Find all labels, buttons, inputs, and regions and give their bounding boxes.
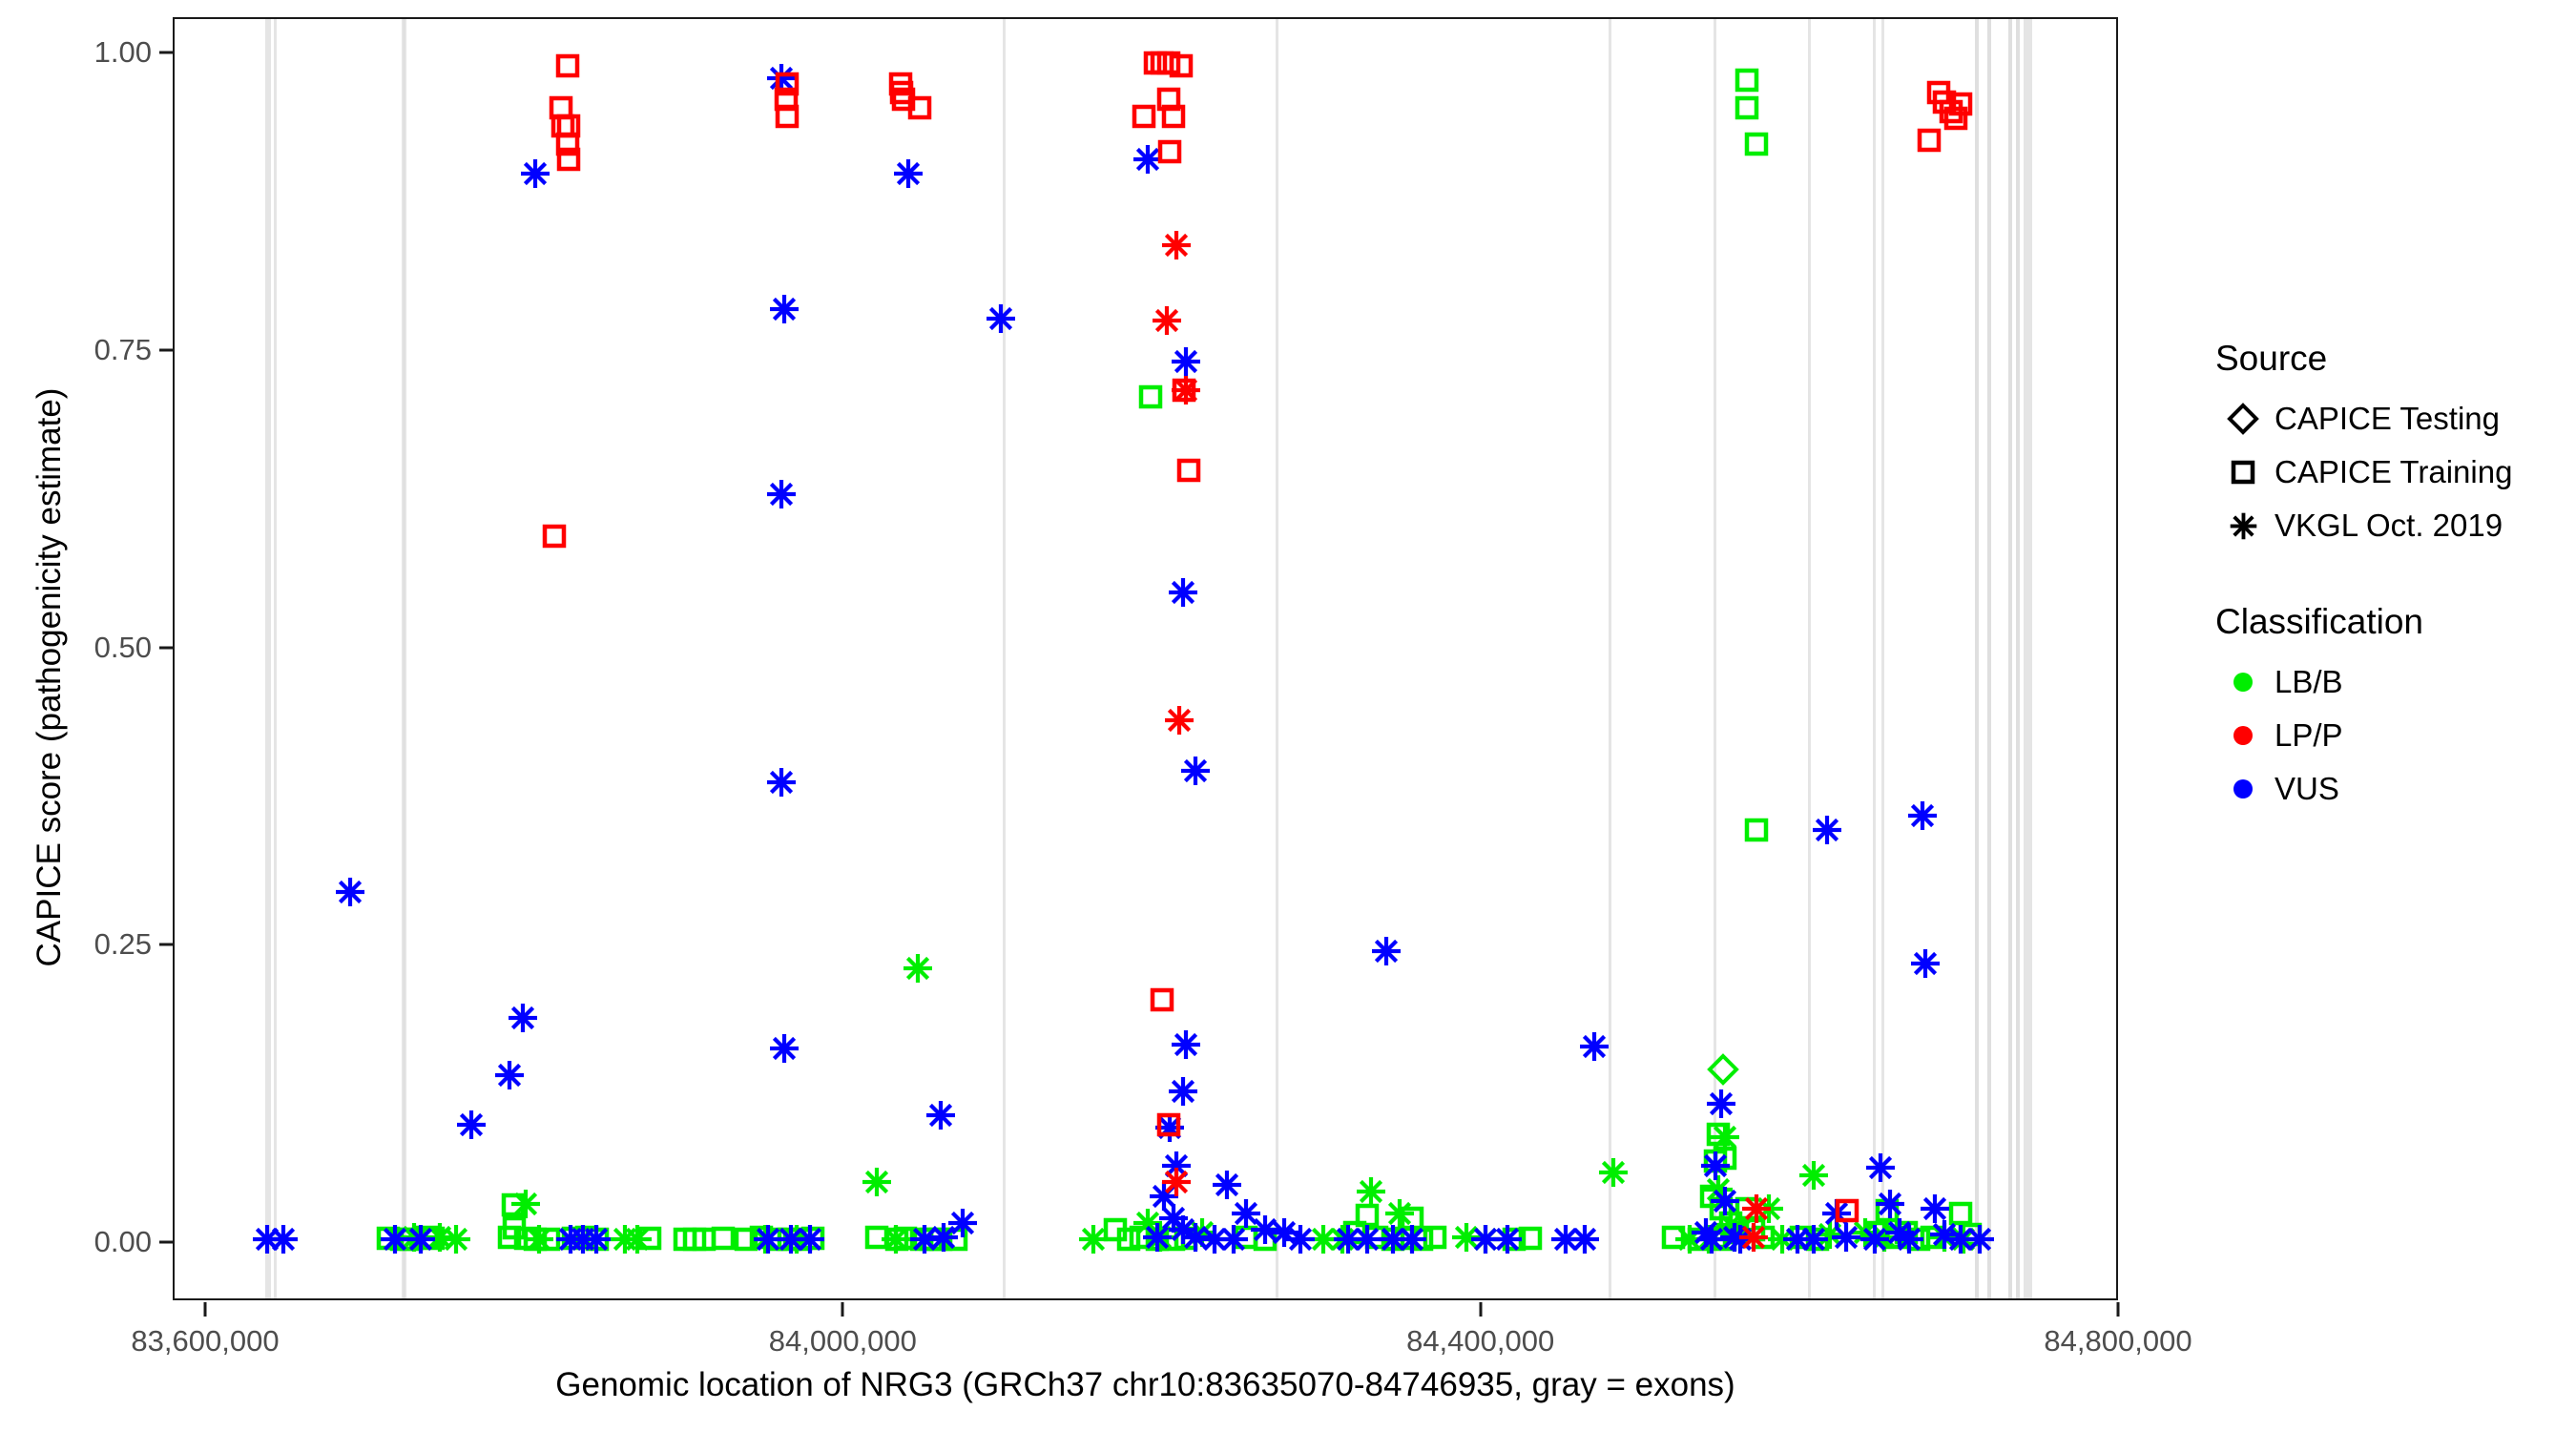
y-axis-title: CAPICE score (pathogenicity estimate) [31, 105, 69, 1250]
x-axis-tick-label: 84,000,000 [769, 1324, 917, 1358]
data-point [900, 950, 936, 986]
data-point [890, 156, 926, 192]
legend-item-vkgl-oct-2019[interactable]: VKGL Oct. 2019 [2212, 499, 2565, 552]
asterisk-icon [2212, 509, 2275, 543]
circle-icon [2212, 777, 2275, 801]
legend-item-label: VUS [2275, 771, 2339, 807]
data-point [1394, 1221, 1430, 1257]
legend: Source CAPICE Testing CAPICE TrainingVKG… [2212, 339, 2565, 816]
y-axis: 0.000.250.500.751.00 [0, 0, 173, 1336]
data-point [578, 1221, 614, 1257]
legend-item-label: CAPICE Training [2275, 454, 2512, 490]
legend-title-classification: Classification [2215, 602, 2565, 642]
data-point [438, 1221, 474, 1257]
y-axis-tick-label: 0.50 [94, 631, 152, 665]
data-point [1177, 753, 1214, 789]
x-axis-tick-label: 84,400,000 [1406, 1324, 1554, 1358]
legend-item-lb-b[interactable]: LB/B [2212, 655, 2565, 709]
circle-icon [2212, 723, 2275, 748]
scatter-points [175, 19, 2116, 1298]
data-point [766, 291, 802, 327]
data-point [517, 156, 553, 192]
data-point [332, 874, 368, 910]
data-point [521, 1221, 557, 1257]
data-point [1215, 1221, 1252, 1257]
data-point [265, 1221, 301, 1257]
data-point [1917, 128, 1942, 153]
legend-item-label: CAPICE Testing [2275, 401, 2500, 437]
data-point [556, 147, 581, 172]
data-point [505, 1000, 541, 1036]
y-axis-tick-label: 0.00 [94, 1225, 152, 1259]
data-point [1862, 1150, 1899, 1186]
x-axis-tick [841, 1302, 844, 1317]
plot-panel [173, 17, 2118, 1300]
data-point [1149, 302, 1185, 339]
data-point [1158, 1164, 1195, 1200]
data-point [1796, 1157, 1832, 1193]
y-axis-tick [159, 944, 173, 946]
data-point [1735, 1219, 1772, 1255]
diamond-icon [2212, 403, 2275, 435]
data-point [1595, 1154, 1631, 1191]
x-axis-title: Genomic location of NRG3 (GRCh37 chr10:8… [173, 1366, 2118, 1404]
data-point [491, 1057, 528, 1093]
data-point [1735, 68, 1759, 93]
x-axis-tick-label: 83,600,000 [131, 1324, 279, 1358]
data-point [983, 301, 1019, 337]
legend-item-vus[interactable]: VUS [2212, 762, 2565, 816]
data-point [542, 524, 567, 549]
legend-item-label: LP/P [2275, 717, 2343, 754]
data-point [763, 764, 800, 800]
data-point [1139, 1219, 1175, 1255]
data-point [1282, 1221, 1319, 1257]
data-point [1157, 139, 1182, 164]
data-point [508, 1186, 544, 1222]
data-point [1857, 1221, 1893, 1257]
data-point [1368, 933, 1404, 969]
legend-item-lp-p[interactable]: LP/P [2212, 709, 2565, 762]
y-axis-tick-label: 1.00 [94, 35, 152, 70]
y-axis-tick [159, 52, 173, 54]
y-axis-tick [159, 1241, 173, 1244]
legend-item-label: LB/B [2275, 664, 2343, 700]
data-point [1744, 132, 1769, 156]
data-point [619, 1221, 655, 1257]
circle-icon [2212, 670, 2275, 695]
square-icon [2212, 460, 2275, 485]
chart-root: 0.000.250.500.751.00 CAPICE score (patho… [0, 0, 2576, 1431]
data-point [403, 1221, 439, 1257]
data-point [1161, 104, 1186, 129]
data-point [1567, 1221, 1603, 1257]
data-point [1891, 1221, 1927, 1257]
data-point [1703, 1086, 1739, 1122]
data-point [555, 53, 580, 78]
legend-item-capice-testing[interactable]: CAPICE Testing [2212, 392, 2565, 446]
data-point [1150, 987, 1174, 1012]
data-point [1075, 1221, 1111, 1257]
data-point [1132, 104, 1156, 129]
legend-spacer [2212, 552, 2565, 602]
legend-title-source: Source [2215, 339, 2565, 379]
y-axis-tick [159, 646, 173, 649]
x-axis-tick [1479, 1302, 1482, 1317]
data-point [1835, 1198, 1859, 1223]
data-point [763, 476, 800, 512]
data-point [1962, 1221, 1998, 1257]
data-point [1138, 384, 1163, 409]
data-point [1165, 574, 1201, 611]
data-point [453, 1107, 489, 1143]
data-point [1904, 798, 1941, 834]
data-point [1158, 227, 1195, 263]
data-point [859, 1164, 895, 1200]
data-point [1165, 1073, 1201, 1110]
data-point [766, 1030, 802, 1067]
x-axis-tick [204, 1302, 207, 1317]
data-point [923, 1097, 959, 1133]
x-axis-tick [2117, 1302, 2120, 1317]
data-point [1697, 1148, 1734, 1184]
data-point [1489, 1221, 1526, 1257]
data-point [792, 1221, 828, 1257]
y-axis-tick-label: 0.75 [94, 333, 152, 367]
data-point [1907, 945, 1943, 982]
data-point [1948, 92, 1973, 116]
data-point [775, 104, 800, 129]
y-axis-tick-label: 0.25 [94, 927, 152, 962]
legend-item-capice-training[interactable]: CAPICE Training [2212, 446, 2565, 499]
data-point [1161, 702, 1197, 738]
data-point [1744, 818, 1769, 842]
data-point [945, 1205, 981, 1241]
data-point [1168, 372, 1204, 408]
y-axis-tick [159, 348, 173, 351]
data-point [711, 1226, 736, 1251]
data-point [1576, 1028, 1612, 1065]
data-point [1809, 812, 1845, 848]
legend-item-label: VKGL Oct. 2019 [2275, 508, 2503, 544]
data-point [1156, 1112, 1181, 1137]
data-point [907, 95, 932, 120]
data-point [1176, 458, 1201, 483]
x-axis-tick-label: 84,800,000 [2044, 1324, 2192, 1358]
data-point [1735, 95, 1759, 120]
data-point [1169, 53, 1194, 78]
data-point [1168, 1027, 1204, 1063]
data-point [1707, 1053, 1739, 1086]
